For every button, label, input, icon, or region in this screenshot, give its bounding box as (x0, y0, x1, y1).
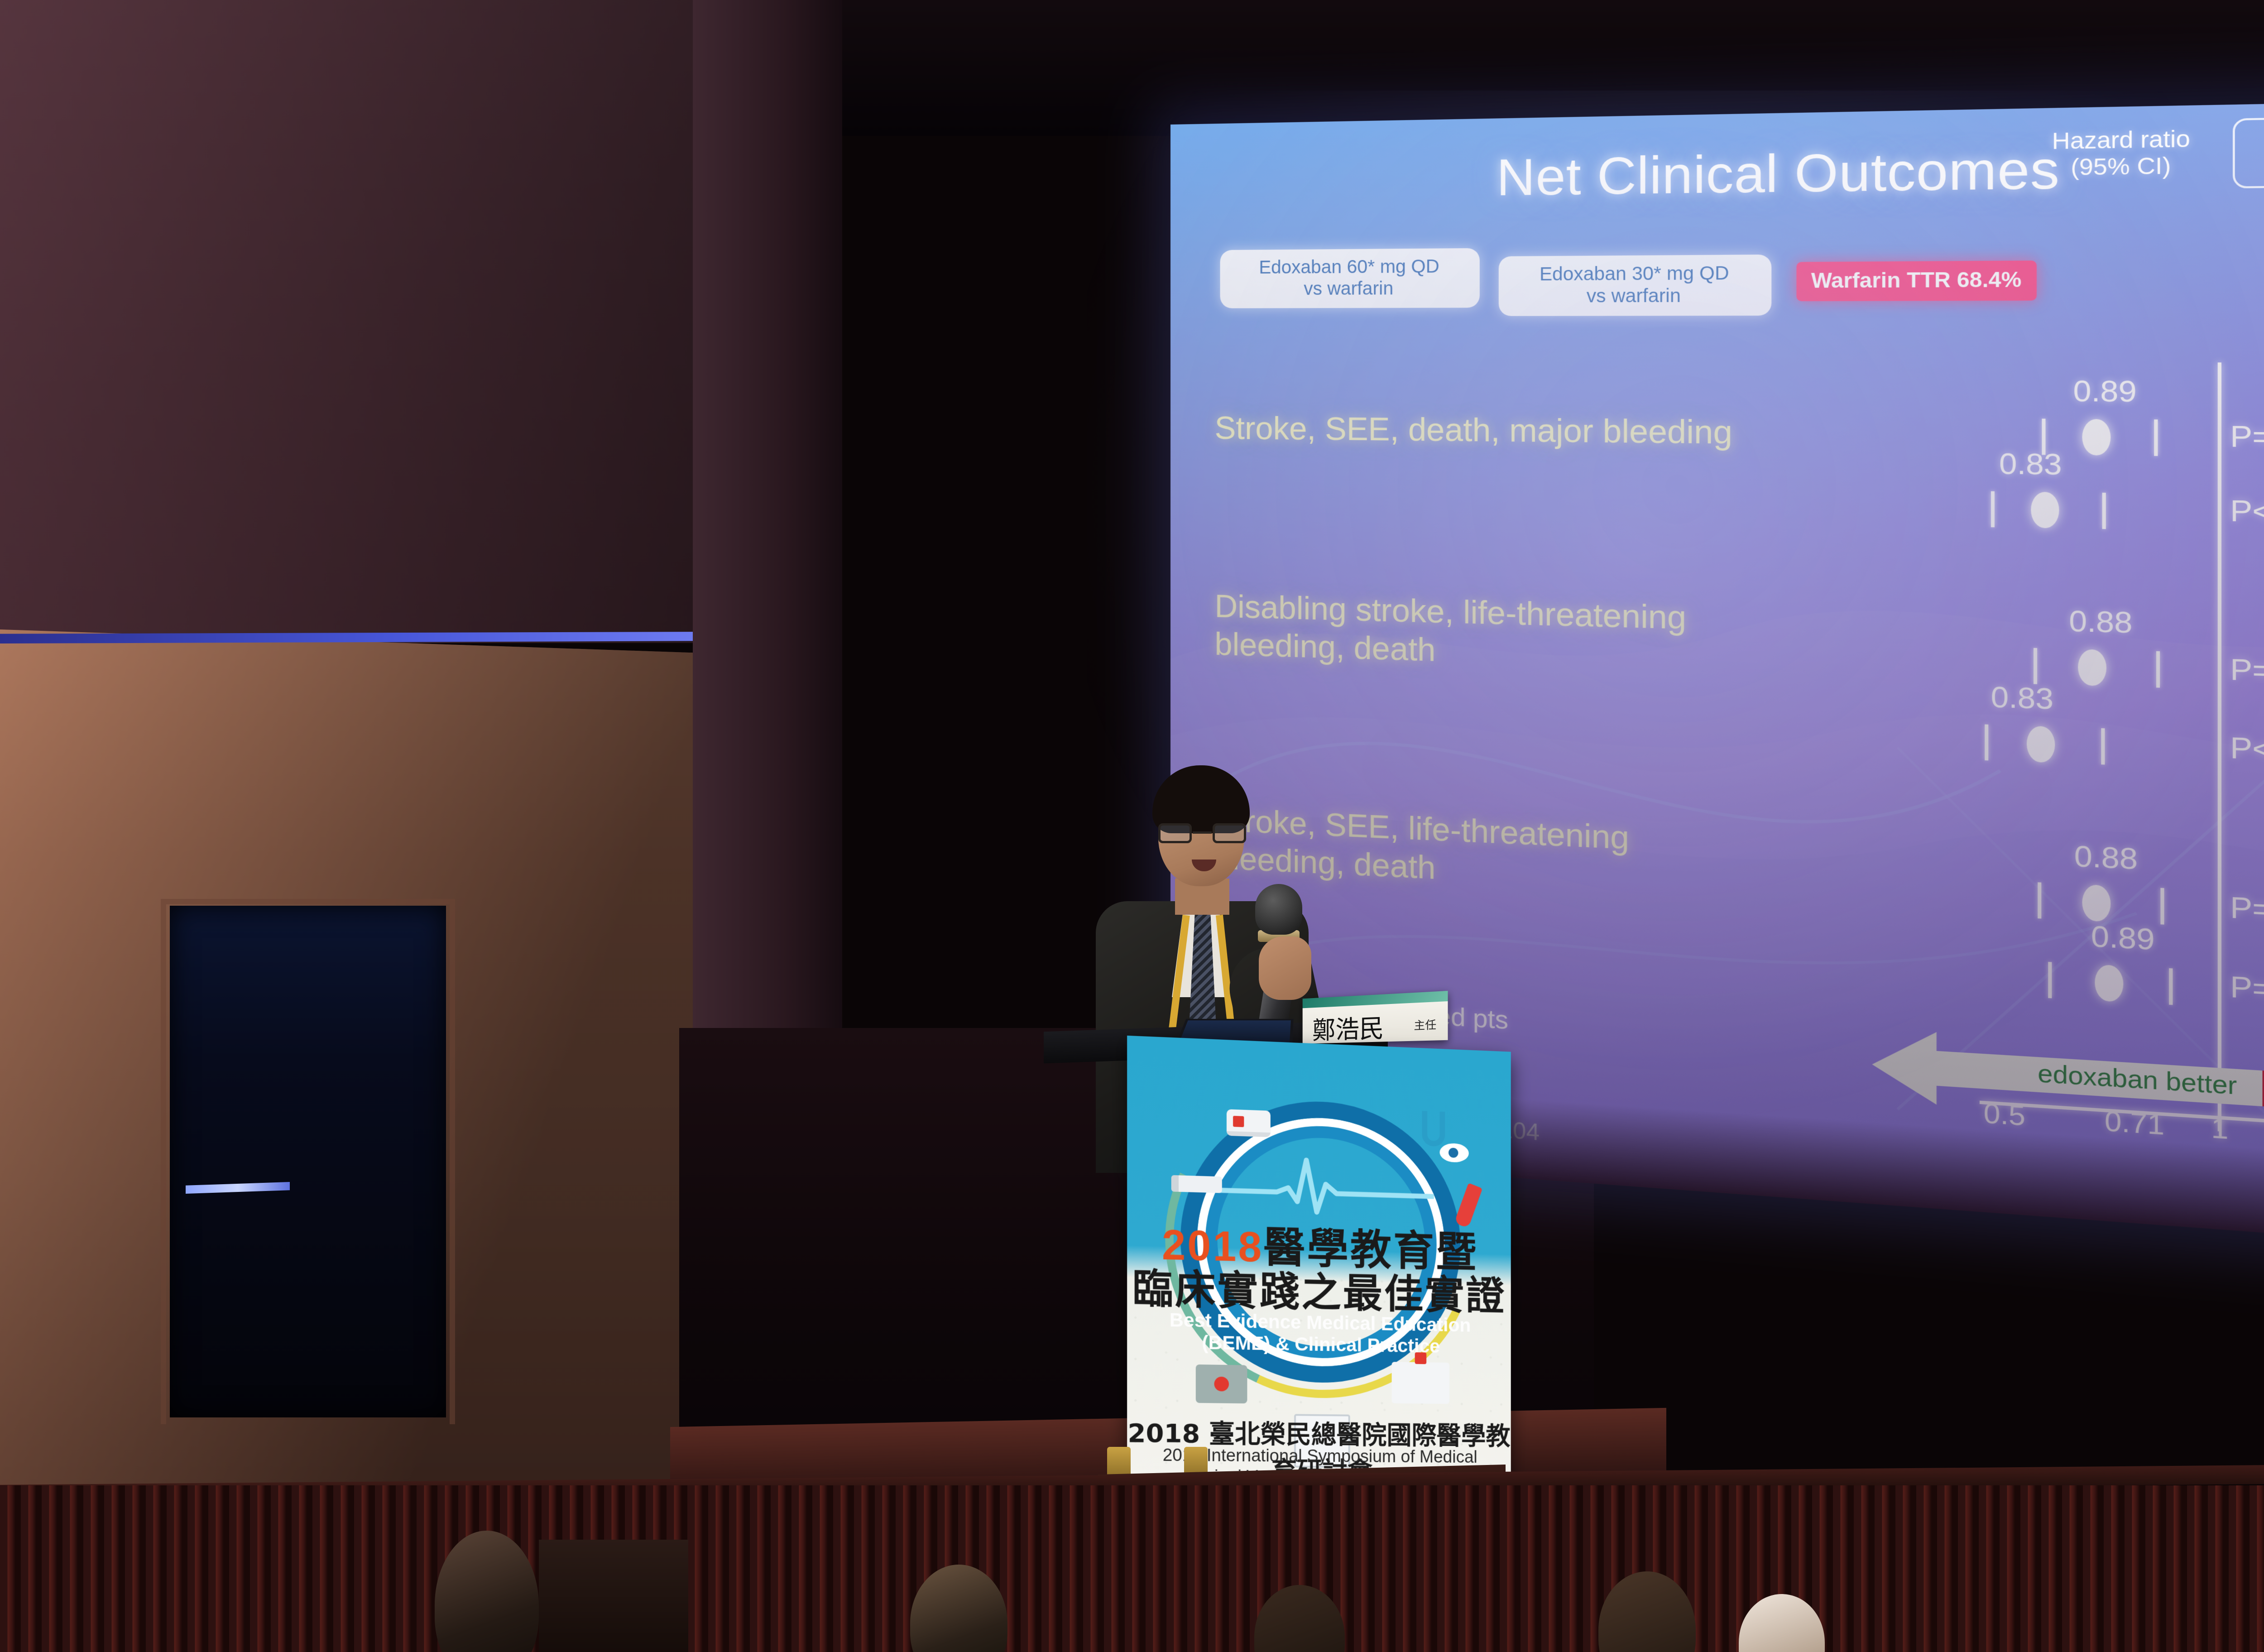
syringe-icon (1171, 1175, 1222, 1193)
podium: 鄭浩民 主任 2018醫學教育暨 臨床實踐之最佳實證 Best Evidence… (1044, 1026, 1524, 1515)
auditorium-scene: Net Clinical Outcomes Edoxaban 60* mg QD… (0, 0, 2264, 1652)
seat-back (539, 1540, 688, 1652)
pill-line-2: vs warfarin (1503, 285, 1766, 308)
hazard-ratio-column-header: Hazard ratio (95% CI) (2021, 125, 2222, 181)
first-aid-kit-icon (1196, 1364, 1247, 1403)
hr-value-row2-edoxaban60: 0.88 (2069, 604, 2132, 640)
hr-value-row1-edoxaban60: 0.89 (2073, 374, 2137, 409)
ci-marker-row1-edoxaban30: 0.83 (1991, 508, 2106, 509)
ekg-heartbeat-icon (1208, 1149, 1434, 1224)
pill-line-2: vs warfarin (1225, 278, 1475, 300)
ci-marker-row3-edoxaban60: 0.88 (2038, 899, 2164, 905)
hazard-ratio-label-line2: (95% CI) (2021, 152, 2222, 181)
p-value-row1-edoxaban30: P<0.001 (2230, 494, 2264, 531)
p-value-row3-edoxaban60: P=0.003 (2230, 890, 2264, 931)
pill-line-1: Edoxaban 60* mg QD (1225, 255, 1475, 279)
comparison-pill-edoxaban-30: Edoxaban 30* mg QD vs warfarin (1499, 255, 1771, 316)
p-value-row2-edoxaban60: P=0.008 (2230, 652, 2264, 691)
hr-value-row3-edoxaban30: 0.89 (2091, 919, 2155, 957)
speaker-name-placard: 鄭浩民 主任 (1303, 991, 1448, 1044)
x-tick-0-5: 0.5 (1984, 1097, 2025, 1132)
outcome-label-row-1: Stroke, SEE, death, major bleeding (1215, 409, 1989, 455)
x-tick-0-71: 0.71 (2105, 1105, 2164, 1141)
pill-line-1: Edoxaban 30* mg QD (1503, 262, 1766, 286)
reference-line-hr-1 (2218, 362, 2221, 1131)
stethoscope-icon (1422, 1111, 1445, 1147)
p-value-column-header: P Value vs warfarin (2233, 115, 2264, 188)
p-value-row1-edoxaban60: P=0.003 (2230, 419, 2264, 455)
ci-marker-row3-edoxaban30: 0.89 (2048, 979, 2173, 985)
x-tick-1-0: 1 (2211, 1111, 2228, 1146)
ci-marker-row1-edoxaban60: 0.89 (2042, 435, 2158, 436)
exit-doorway[interactable] (170, 906, 446, 1417)
hr-value-row2-edoxaban30: 0.83 (1991, 680, 2054, 716)
hazard-ratio-label-line1: Hazard ratio (2021, 125, 2222, 155)
speaker-hand (1259, 936, 1311, 1000)
microphone-head-icon (1255, 884, 1302, 935)
ci-marker-row2-edoxaban60: 0.88 (2034, 664, 2160, 668)
ci-marker-row2-edoxaban30: 0.83 (1985, 741, 2105, 745)
conference-banner: 2018醫學教育暨 臨床實踐之最佳實證 Best Evidence Medica… (1127, 1036, 1511, 1493)
placard-name-text: 鄭浩民 (1312, 1008, 1384, 1047)
stage-front-panel (0, 1485, 2264, 1652)
warfarin-ttr-badge: Warfarin TTR 68.4% (1796, 260, 2036, 301)
hospital-icon (1392, 1362, 1449, 1404)
comparison-pill-edoxaban-60: Edoxaban 60* mg QD vs warfarin (1220, 248, 1480, 308)
p-value-label-line1: P Value (2238, 124, 2264, 154)
p-value-label-line2: vs warfarin (2238, 150, 2264, 179)
ambulance-icon (1227, 1109, 1271, 1137)
hr-value-row3-edoxaban60: 0.88 (2074, 839, 2138, 877)
p-value-row2-edoxaban30: P<0.001 (2230, 730, 2264, 770)
placard-role-text: 主任 (1414, 1015, 1437, 1032)
hr-value-row1-edoxaban30: 0.83 (1999, 447, 2062, 482)
comparison-pill-row: Edoxaban 60* mg QD vs warfarin Edoxaban … (1220, 241, 2264, 318)
eyeglasses-icon (1157, 823, 1247, 843)
